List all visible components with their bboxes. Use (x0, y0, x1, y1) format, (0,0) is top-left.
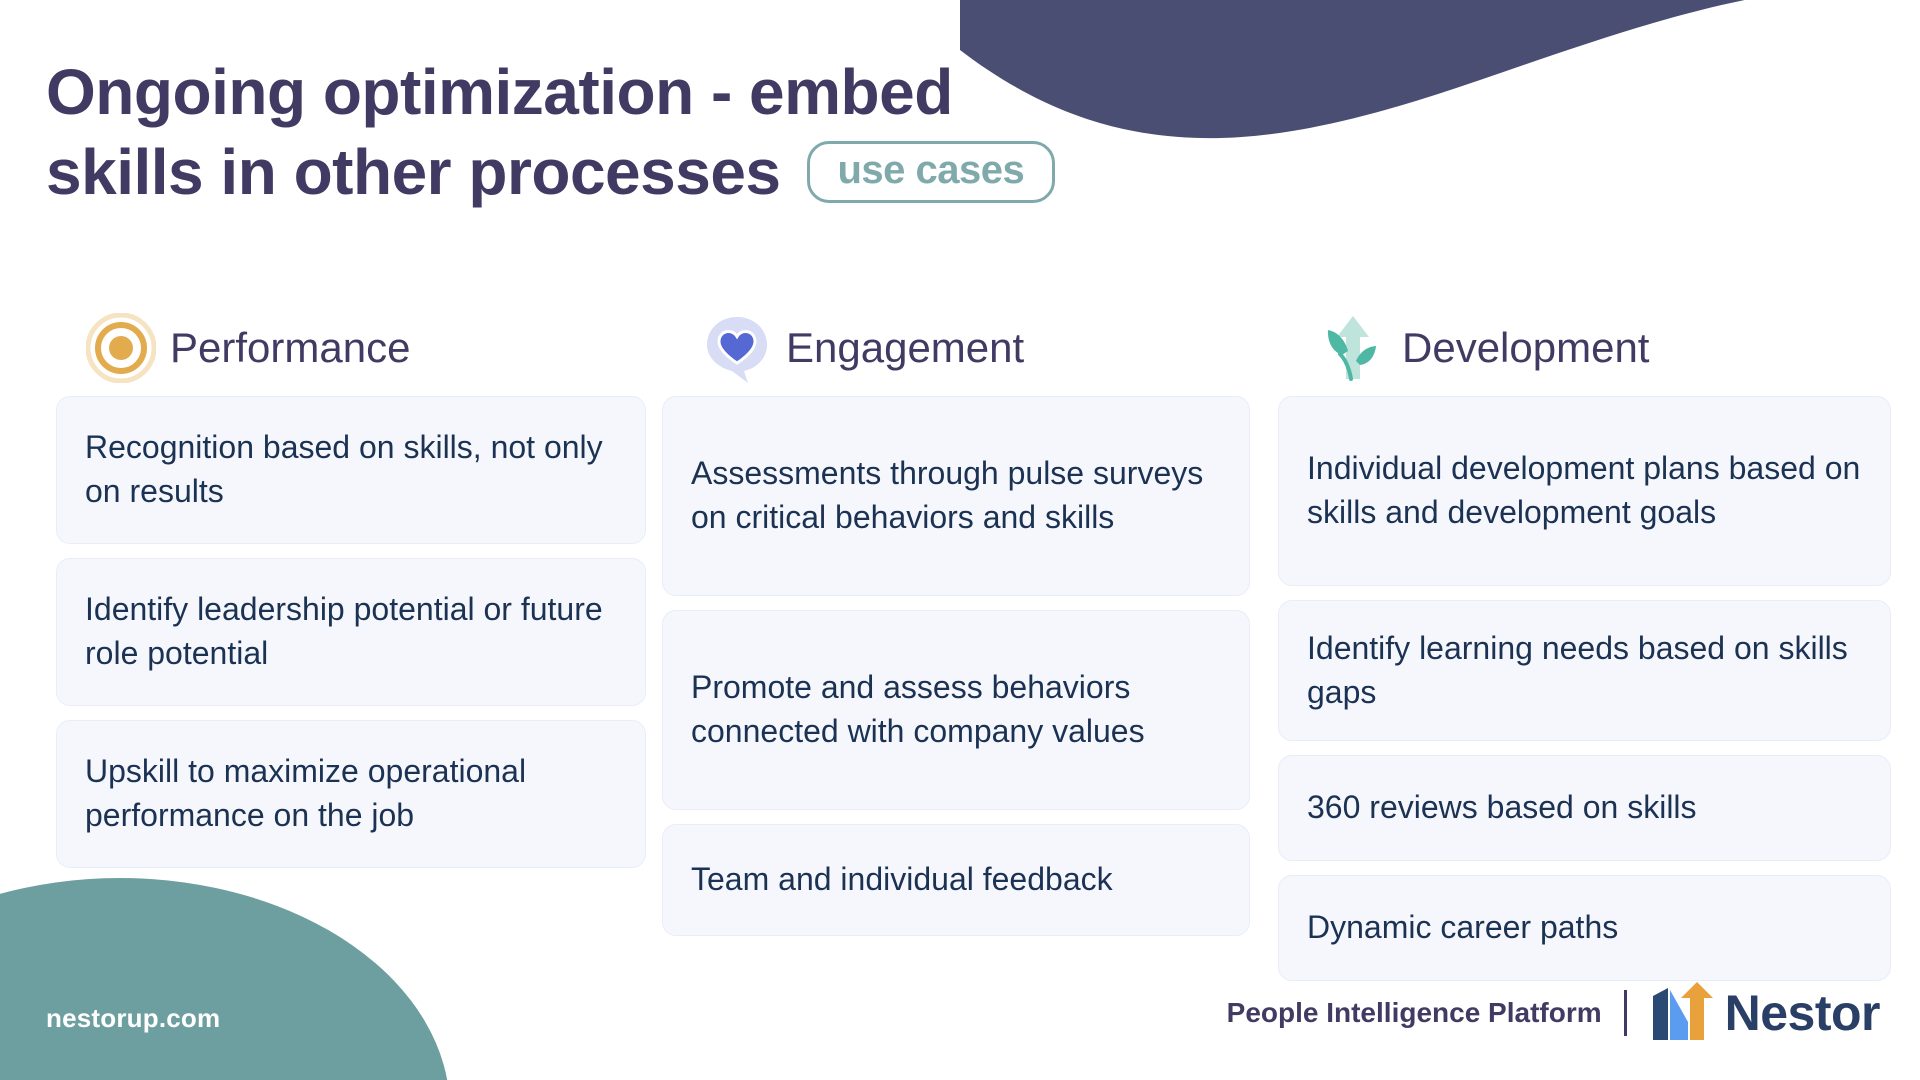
card-item: Identify learning needs based on skills … (1278, 600, 1891, 741)
page-title: Ongoing optimization - embed skills in o… (46, 52, 1346, 212)
column-engagement: Engagement Assessments through pulse sur… (662, 300, 1262, 981)
columns-container: Performance Recognition based on skills,… (46, 300, 1886, 981)
use-cases-badge: use cases (807, 141, 1056, 203)
footer-divider (1624, 990, 1627, 1036)
nestor-logo: Nestor (1649, 982, 1880, 1044)
nestor-n-logo-icon (1649, 982, 1715, 1044)
brand-name-label: Nestor (1725, 984, 1880, 1042)
column-development: Development Individual development plans… (1278, 300, 1878, 981)
target-bullseye-icon (86, 313, 156, 383)
column-header-engagement: Engagement (662, 300, 1262, 396)
card-item: Promote and assess behaviors connected w… (662, 610, 1250, 810)
heart-speech-bubble-icon (702, 313, 772, 383)
seedling-growth-arrow-icon (1318, 313, 1388, 383)
tagline-label: People Intelligence Platform (1227, 997, 1602, 1029)
column-performance: Performance Recognition based on skills,… (46, 300, 646, 981)
column-title-performance: Performance (170, 324, 410, 372)
card-list-performance: Recognition based on skills, not only on… (46, 396, 646, 868)
card-item: 360 reviews based on skills (1278, 755, 1891, 861)
column-title-development: Development (1402, 324, 1649, 372)
column-header-performance: Performance (46, 300, 646, 396)
card-list-engagement: Assessments through pulse surveys on cri… (662, 396, 1262, 936)
title-line-2: skills in other processes (46, 132, 781, 212)
card-item: Upskill to maximize operational performa… (56, 720, 646, 868)
title-line-1: Ongoing optimization - embed (46, 52, 1346, 132)
footer-branding: People Intelligence Platform Nestor (1227, 982, 1880, 1044)
card-item: Recognition based on skills, not only on… (56, 396, 646, 544)
card-item: Identify leadership potential or future … (56, 558, 646, 706)
column-title-engagement: Engagement (786, 324, 1024, 372)
site-url-label: nestorup.com (46, 1003, 220, 1034)
column-header-development: Development (1278, 300, 1878, 396)
card-item: Individual development plans based on sk… (1278, 396, 1891, 586)
slide-root: Ongoing optimization - embed skills in o… (0, 0, 1920, 1080)
card-item: Team and individual feedback (662, 824, 1250, 936)
card-item: Assessments through pulse surveys on cri… (662, 396, 1250, 596)
card-list-development: Individual development plans based on sk… (1278, 396, 1878, 981)
card-item: Dynamic career paths (1278, 875, 1891, 981)
